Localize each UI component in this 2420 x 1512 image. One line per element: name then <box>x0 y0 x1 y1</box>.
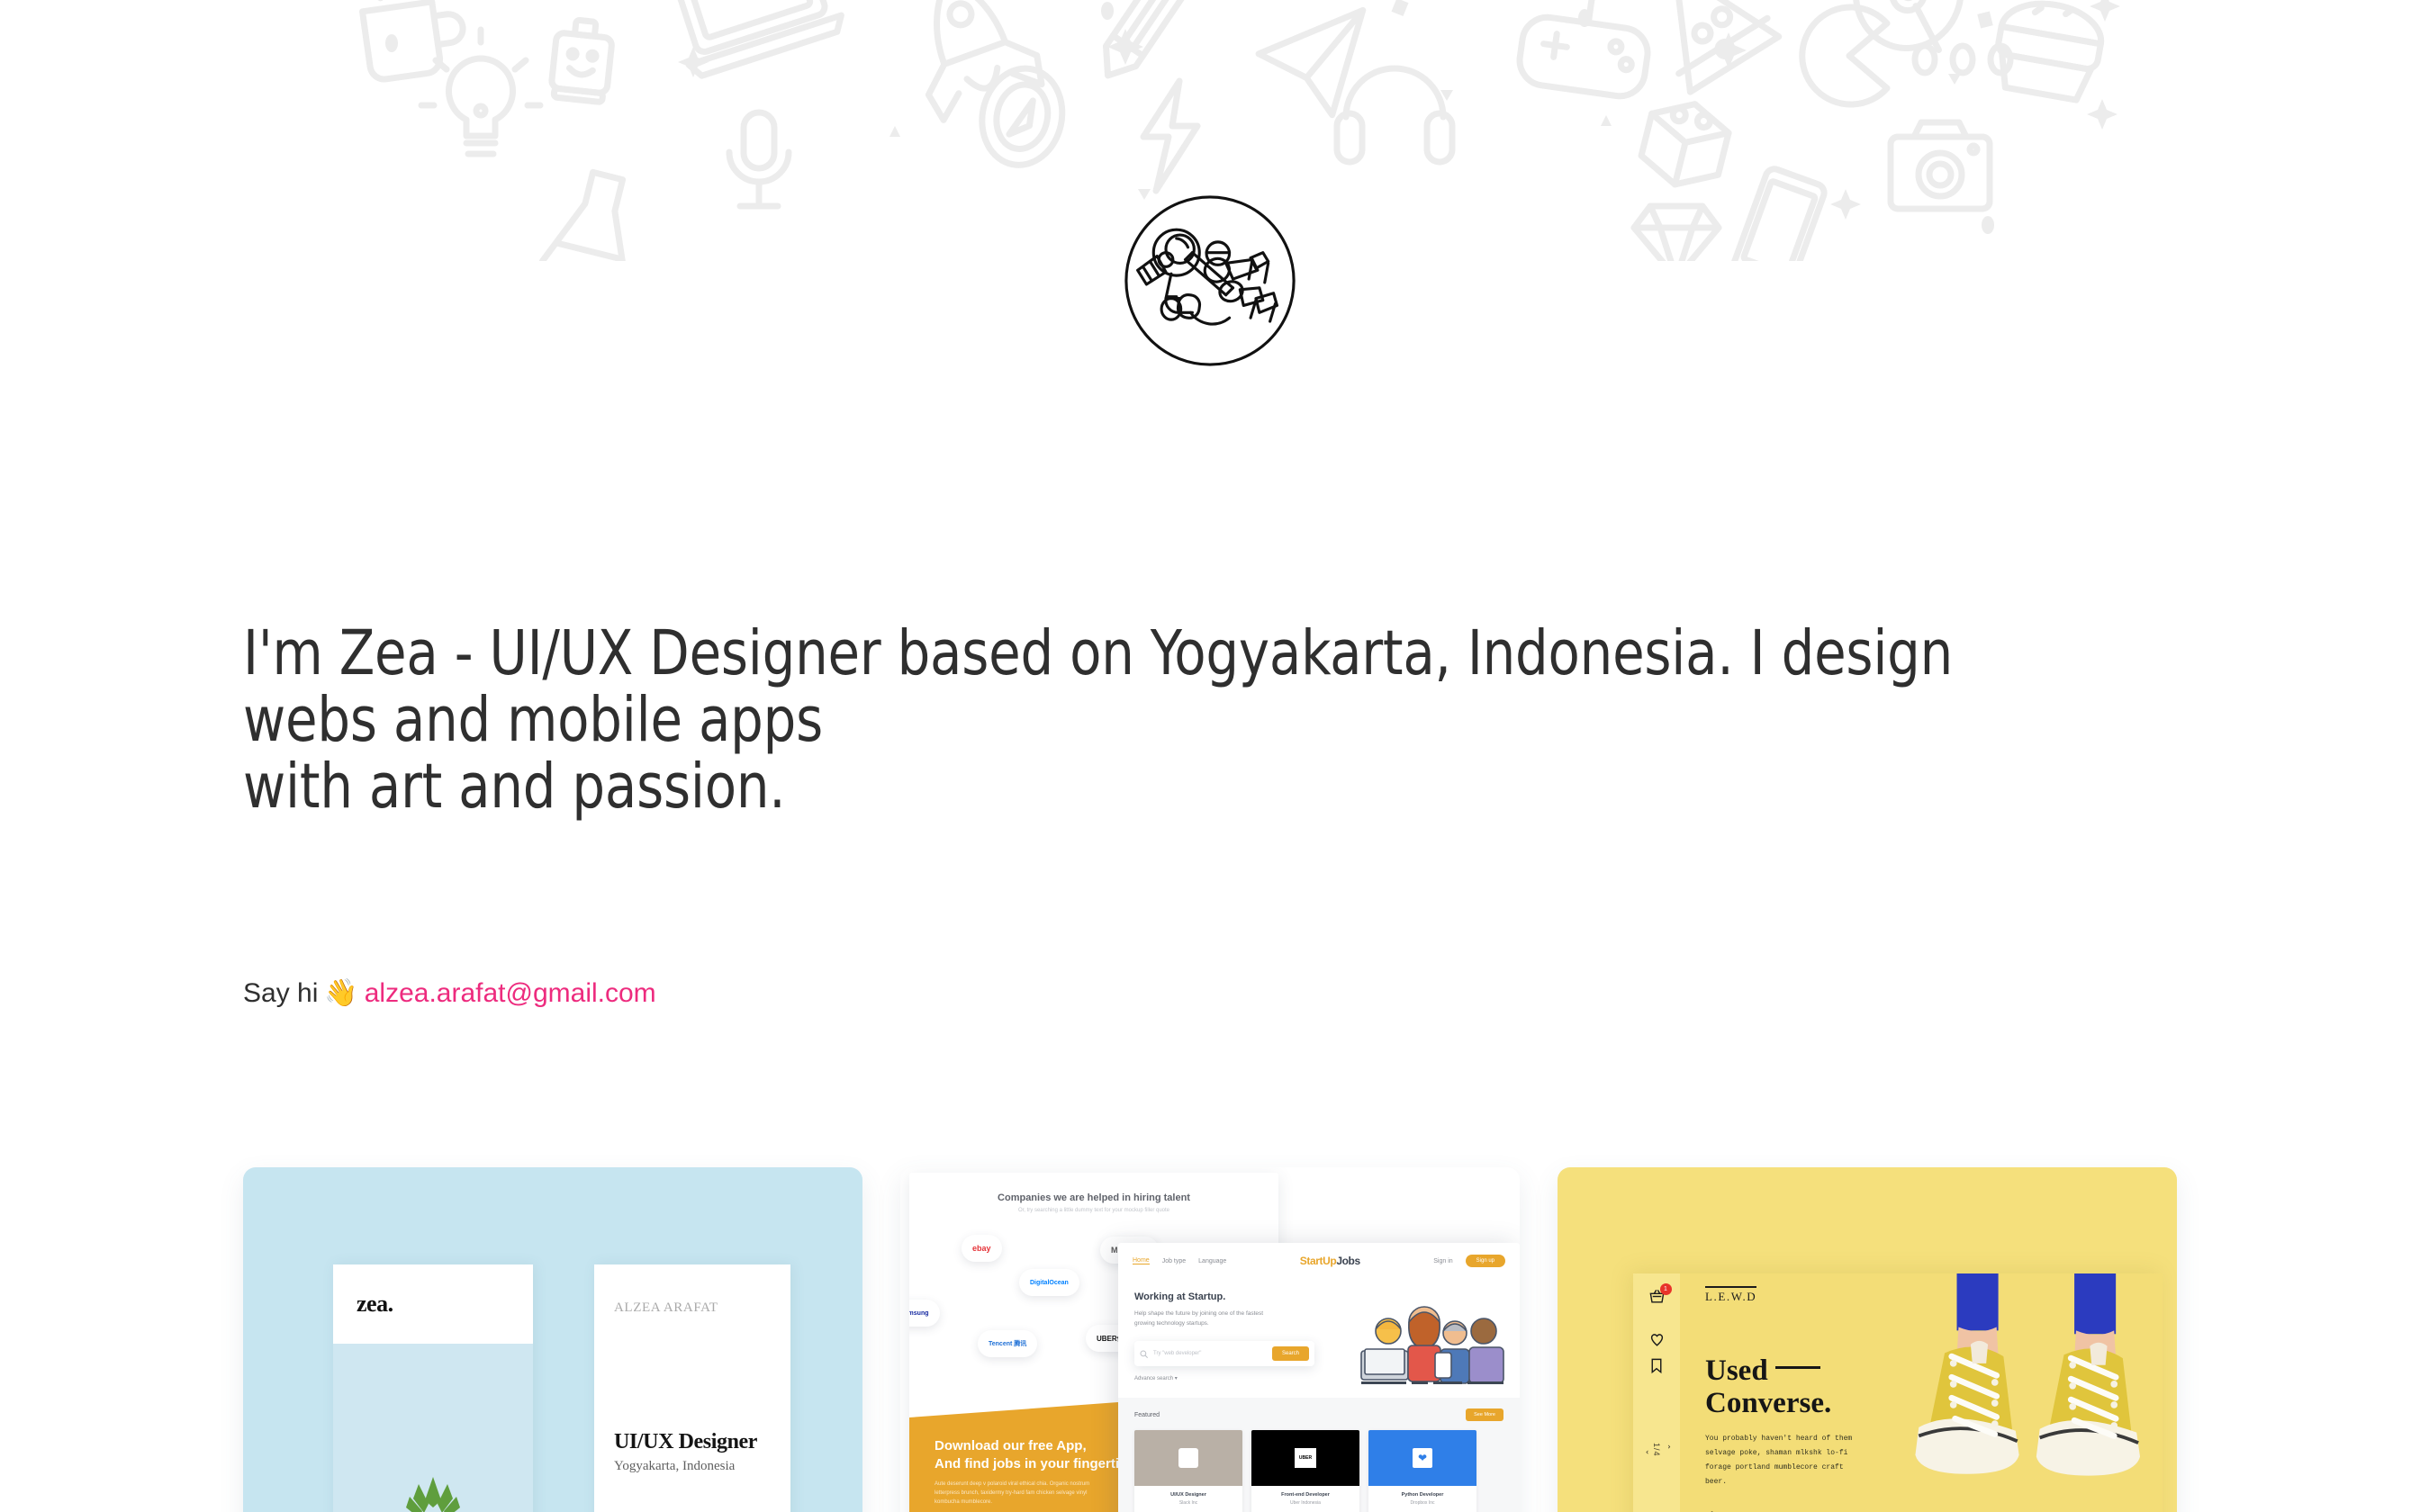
branding-card-front: zea. <box>333 1264 533 1512</box>
email-link[interactable]: alzea.arafat@gmail.com <box>365 978 656 1009</box>
contact-prefix-label: Say hi <box>243 978 318 1009</box>
nav-sign-up[interactable]: Sign up <box>1466 1255 1505 1267</box>
bookmark-icon[interactable] <box>1649 1357 1664 1374</box>
logo-samsung: Samsung <box>909 1300 940 1327</box>
mockup-brand: StartUpJobs <box>1239 1255 1421 1267</box>
job-thumb: ❤ <box>1368 1430 1476 1486</box>
logo-ebay: ebay <box>962 1235 1002 1262</box>
uber-logo-icon: UBER <box>1295 1448 1316 1468</box>
mockup-hero-body: Help shape the future by joining one of … <box>1134 1309 1269 1328</box>
job-search-button[interactable]: Search <box>1272 1346 1309 1361</box>
logo-tencent: Tencent 腾讯 <box>978 1330 1037 1357</box>
cart-badge: 1 <box>1660 1283 1672 1295</box>
heart-icon[interactable] <box>1648 1331 1666 1348</box>
see-more-button[interactable]: See More <box>1466 1408 1503 1421</box>
featured-label: Featured <box>1134 1412 1160 1418</box>
job-thumb: UBER <box>1251 1430 1359 1486</box>
featured-jobs-list: UI/UX Designer Slack Inc Full-time | Por… <box>1134 1430 1503 1512</box>
portfolio-page: I'm Zea - UI/UX Designer based on Yogyak… <box>0 0 2420 1512</box>
owner-role: UI/UX Designer <box>614 1430 757 1454</box>
chevron-up-icon: ⌃ <box>1661 1444 1671 1453</box>
mockup-hero: Working at Startup. Help shape the futur… <box>1118 1279 1520 1398</box>
nav-home[interactable]: Home <box>1133 1257 1150 1264</box>
store-side-rail: 1 ⌃ 1/4 ⌄ <box>1633 1273 1680 1512</box>
dropbox-logo-icon: ❤ <box>1413 1448 1432 1468</box>
job-search-input[interactable]: Try "web developer" <box>1153 1351 1267 1356</box>
product-description: You probably haven't heard of them selva… <box>1705 1432 1864 1489</box>
startupjobs-home-mockup: Home Job type Language StartUpJobs Sign … <box>1118 1243 1520 1512</box>
succulent-plant-icon <box>392 1470 474 1512</box>
job-title: Front-end Developer <box>1257 1492 1354 1498</box>
contact-line: Say hi 👋 alzea.arafat@gmail.com <box>243 978 656 1009</box>
project-card-lewd-store[interactable]: 1 ⌃ 1/4 ⌄ L.E.W.D <box>1558 1167 2177 1512</box>
project-card-startupjobs[interactable]: Companies we are helped in hiring talent… <box>900 1167 1520 1512</box>
job-title: Python Developer <box>1374 1492 1471 1498</box>
mockup-navbar: Home Job type Language StartUpJobs Sign … <box>1118 1243 1520 1279</box>
logo-digitalocean: DigitalOcean <box>1019 1269 1079 1296</box>
slide-pager: ⌃ 1/4 ⌄ <box>1643 1443 1670 1458</box>
store-product-page: 1 ⌃ 1/4 ⌄ L.E.W.D <box>1633 1273 2163 1512</box>
job-company: Slack Inc <box>1140 1500 1237 1506</box>
companies-heading: Companies we are helped in hiring talent <box>909 1192 1278 1203</box>
product-price: $19999 <box>1705 1507 1876 1512</box>
job-company: Uber Indonesia <box>1257 1500 1354 1506</box>
hero-section: I'm Zea - UI/UX Designer based on Yogyak… <box>243 621 2134 820</box>
product-title: Used Converse. <box>1705 1355 1876 1419</box>
waving-hand-icon: 👋 <box>324 980 357 1007</box>
owner-location: Yogyakarta, Indonesia <box>614 1459 735 1474</box>
chevron-down-icon: ⌄ <box>1643 1449 1653 1458</box>
owner-name: ALZEA ARAFAT <box>614 1300 771 1316</box>
astronaut-logo-icon <box>1122 193 1298 369</box>
branding-card-logo-area: zea. <box>333 1264 533 1344</box>
cart-button[interactable]: 1 <box>1648 1288 1666 1309</box>
job-card[interactable]: ❤ Python Developer Dropbox Inc Remote | … <box>1368 1430 1476 1512</box>
chevron-down-icon: ▾ <box>1175 1376 1178 1381</box>
store-brand: L.E.W.D <box>1705 1286 1756 1304</box>
product-details: L.E.W.D Used Converse. You probably have… <box>1705 1286 1876 1512</box>
slack-logo-icon <box>1178 1448 1198 1468</box>
search-icon <box>1140 1350 1148 1358</box>
projects-grid: zea. ALZEA ARAFAT UI/UX <box>243 1167 2177 1512</box>
featured-jobs-section: Featured See More UI/UX Designer Slack I… <box>1118 1398 1520 1512</box>
job-search-bar[interactable]: Try "web developer" Search <box>1134 1341 1314 1366</box>
job-company: Dropbox Inc <box>1374 1500 1471 1506</box>
title-dash <box>1775 1366 1820 1369</box>
job-card[interactable]: UI/UX Designer Slack Inc Full-time | Por… <box>1134 1430 1242 1512</box>
page-title: I'm Zea - UI/UX Designer based on Yogyak… <box>243 621 2001 820</box>
converse-shoes-photo <box>1903 1273 2163 1512</box>
branding-card-back: ALZEA ARAFAT UI/UX Designer Yogyakarta, … <box>594 1264 790 1512</box>
job-card[interactable]: UBER Front-end Developer Uber Indonesia … <box>1251 1430 1359 1512</box>
project-card-personal-branding[interactable]: zea. ALZEA ARAFAT UI/UX <box>243 1167 862 1512</box>
team-illustration <box>1349 1299 1509 1385</box>
app-band-body: Aute deserunt deep v polaroid viral ethi… <box>935 1480 1092 1507</box>
nav-job-type[interactable]: Job type <box>1162 1258 1186 1264</box>
site-logo[interactable] <box>0 193 2420 369</box>
companies-subheading: Or, try searching a little dummy text fo… <box>909 1208 1278 1213</box>
branding-card-logo: zea. <box>357 1291 393 1318</box>
nav-sign-in[interactable]: Sign in <box>1433 1258 1452 1264</box>
job-title: UI/UX Designer <box>1140 1492 1237 1498</box>
job-thumb <box>1134 1430 1242 1486</box>
nav-language[interactable]: Language <box>1198 1258 1226 1264</box>
